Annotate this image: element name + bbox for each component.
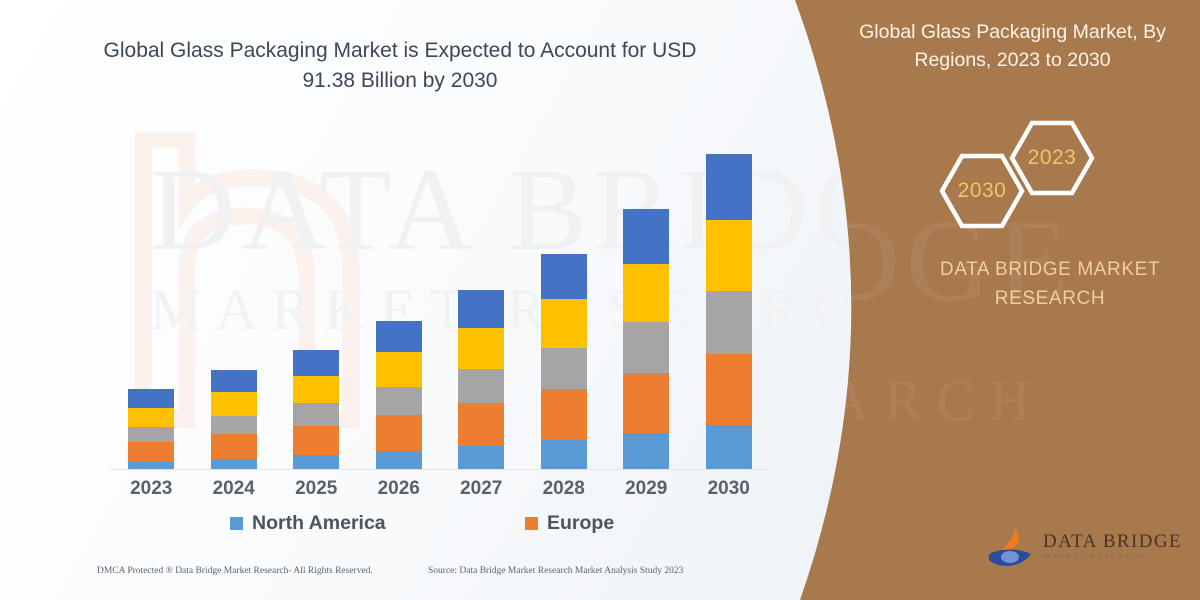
bar-segment-asia-pacific-2023	[128, 427, 174, 442]
bar-2028	[541, 254, 587, 469]
bar-segment-south-america-2026	[376, 352, 422, 387]
x-axis-tick-2023: 2023	[111, 478, 191, 500]
logo-text: DATA BRIDGE	[1043, 531, 1182, 553]
brand-name: DATA BRIDGE MARKET RESEARCH	[905, 256, 1195, 313]
legend-swatch-north-america	[230, 517, 243, 530]
bar-2027	[458, 290, 504, 469]
bar-2024	[211, 370, 257, 469]
legend-label-europe: Europe	[547, 512, 614, 535]
logo-subtitle: MARKET RESEARCH	[1044, 553, 1146, 560]
bar-segment-europe-2023	[128, 442, 174, 462]
bar-segment-asia-pacific-2029	[623, 322, 669, 373]
bar-segment-europe-2029	[623, 373, 669, 433]
x-axis-tick-2026: 2026	[359, 478, 439, 500]
bar-segment-middle-east-and-africa-2023	[128, 389, 174, 407]
bar-segment-south-america-2024	[211, 392, 257, 416]
x-axis-tick-2027: 2027	[441, 478, 521, 500]
bar-segment-europe-2027	[458, 403, 504, 446]
infographic-canvas: DATA BRIDGE MARKET RESEARCH BRIDGE RESEA…	[0, 0, 1200, 600]
page-title: Global Glass Packaging Market is Expecte…	[90, 36, 710, 97]
bar-segment-north-america-2026	[376, 451, 422, 469]
bar-segment-south-america-2029	[623, 264, 669, 323]
bar-segment-europe-2030	[706, 354, 752, 426]
bar-segment-europe-2024	[211, 434, 257, 458]
bar-segment-north-america-2028	[541, 440, 587, 469]
bar-segment-south-america-2030	[706, 220, 752, 292]
bar-segment-middle-east-and-africa-2026	[376, 321, 422, 352]
bar-segment-asia-pacific-2027	[458, 369, 504, 404]
legend-item-north-america: North America	[230, 512, 386, 535]
bar-segment-asia-pacific-2024	[211, 416, 257, 434]
panel-title: Global Glass Packaging Market, By Region…	[835, 18, 1190, 75]
bar-segment-europe-2028	[541, 389, 587, 440]
footer-copyright: DMCA Protected ® Data Bridge Market Rese…	[97, 566, 373, 576]
x-axis-tick-2030: 2030	[689, 478, 769, 500]
footer: DMCA Protected ® Data Bridge Market Rese…	[0, 566, 920, 592]
bar-2029	[623, 209, 669, 469]
bar-segment-south-america-2028	[541, 299, 587, 347]
company-logo: DATA BRIDGE MARKET RESEARCH	[985, 527, 1195, 579]
brand-line-2: RESEARCH	[995, 288, 1105, 309]
bar-segment-north-america-2023	[128, 462, 174, 469]
bar-2030	[706, 154, 752, 469]
chart-baseline	[110, 469, 770, 470]
bar-segment-north-america-2024	[211, 459, 257, 469]
bar-segment-south-america-2025	[293, 376, 339, 404]
bar-segment-asia-pacific-2026	[376, 387, 422, 415]
bar-segment-north-america-2027	[458, 446, 504, 469]
bar-segment-asia-pacific-2030	[706, 291, 752, 353]
legend-item-europe: Europe	[525, 512, 614, 535]
x-axis-labels: 20232024202520262027202820292030	[110, 478, 770, 504]
x-axis-tick-2028: 2028	[524, 478, 604, 500]
chart-legend: North America Europe	[110, 512, 770, 544]
bar-segment-middle-east-and-africa-2024	[211, 370, 257, 392]
bar-2025	[293, 350, 339, 469]
bar-2023	[128, 389, 174, 469]
bar-segment-middle-east-and-africa-2027	[458, 290, 504, 328]
hexagon-2023-label: 2023	[1028, 146, 1077, 170]
bar-2026	[376, 321, 422, 469]
stacked-bar-chart	[110, 140, 770, 470]
hexagon-2030-label: 2030	[958, 179, 1007, 203]
footer-source: Source: Data Bridge Market Research Mark…	[428, 566, 683, 576]
bar-segment-asia-pacific-2025	[293, 403, 339, 426]
legend-label-north-america: North America	[252, 512, 386, 535]
bar-segment-middle-east-and-africa-2029	[623, 209, 669, 263]
bar-segment-europe-2026	[376, 415, 422, 451]
x-axis-tick-2024: 2024	[194, 478, 274, 500]
legend-swatch-europe	[525, 517, 538, 530]
logo-mark-icon	[985, 527, 1039, 577]
bar-segment-north-america-2025	[293, 455, 339, 469]
hexagon-badge-2023: 2023	[1008, 119, 1096, 197]
bar-segment-middle-east-and-africa-2030	[706, 154, 752, 220]
bar-segment-middle-east-and-africa-2028	[541, 254, 587, 299]
x-axis-tick-2029: 2029	[606, 478, 686, 500]
bar-segment-europe-2025	[293, 426, 339, 455]
bar-segment-middle-east-and-africa-2025	[293, 350, 339, 375]
bar-segment-south-america-2023	[128, 408, 174, 428]
brand-line-1: DATA BRIDGE MARKET	[940, 259, 1160, 280]
bar-segment-north-america-2030	[706, 425, 752, 469]
bar-segment-asia-pacific-2028	[541, 348, 587, 390]
x-axis-tick-2025: 2025	[276, 478, 356, 500]
bar-segment-north-america-2029	[623, 433, 669, 469]
bar-segment-south-america-2027	[458, 328, 504, 368]
